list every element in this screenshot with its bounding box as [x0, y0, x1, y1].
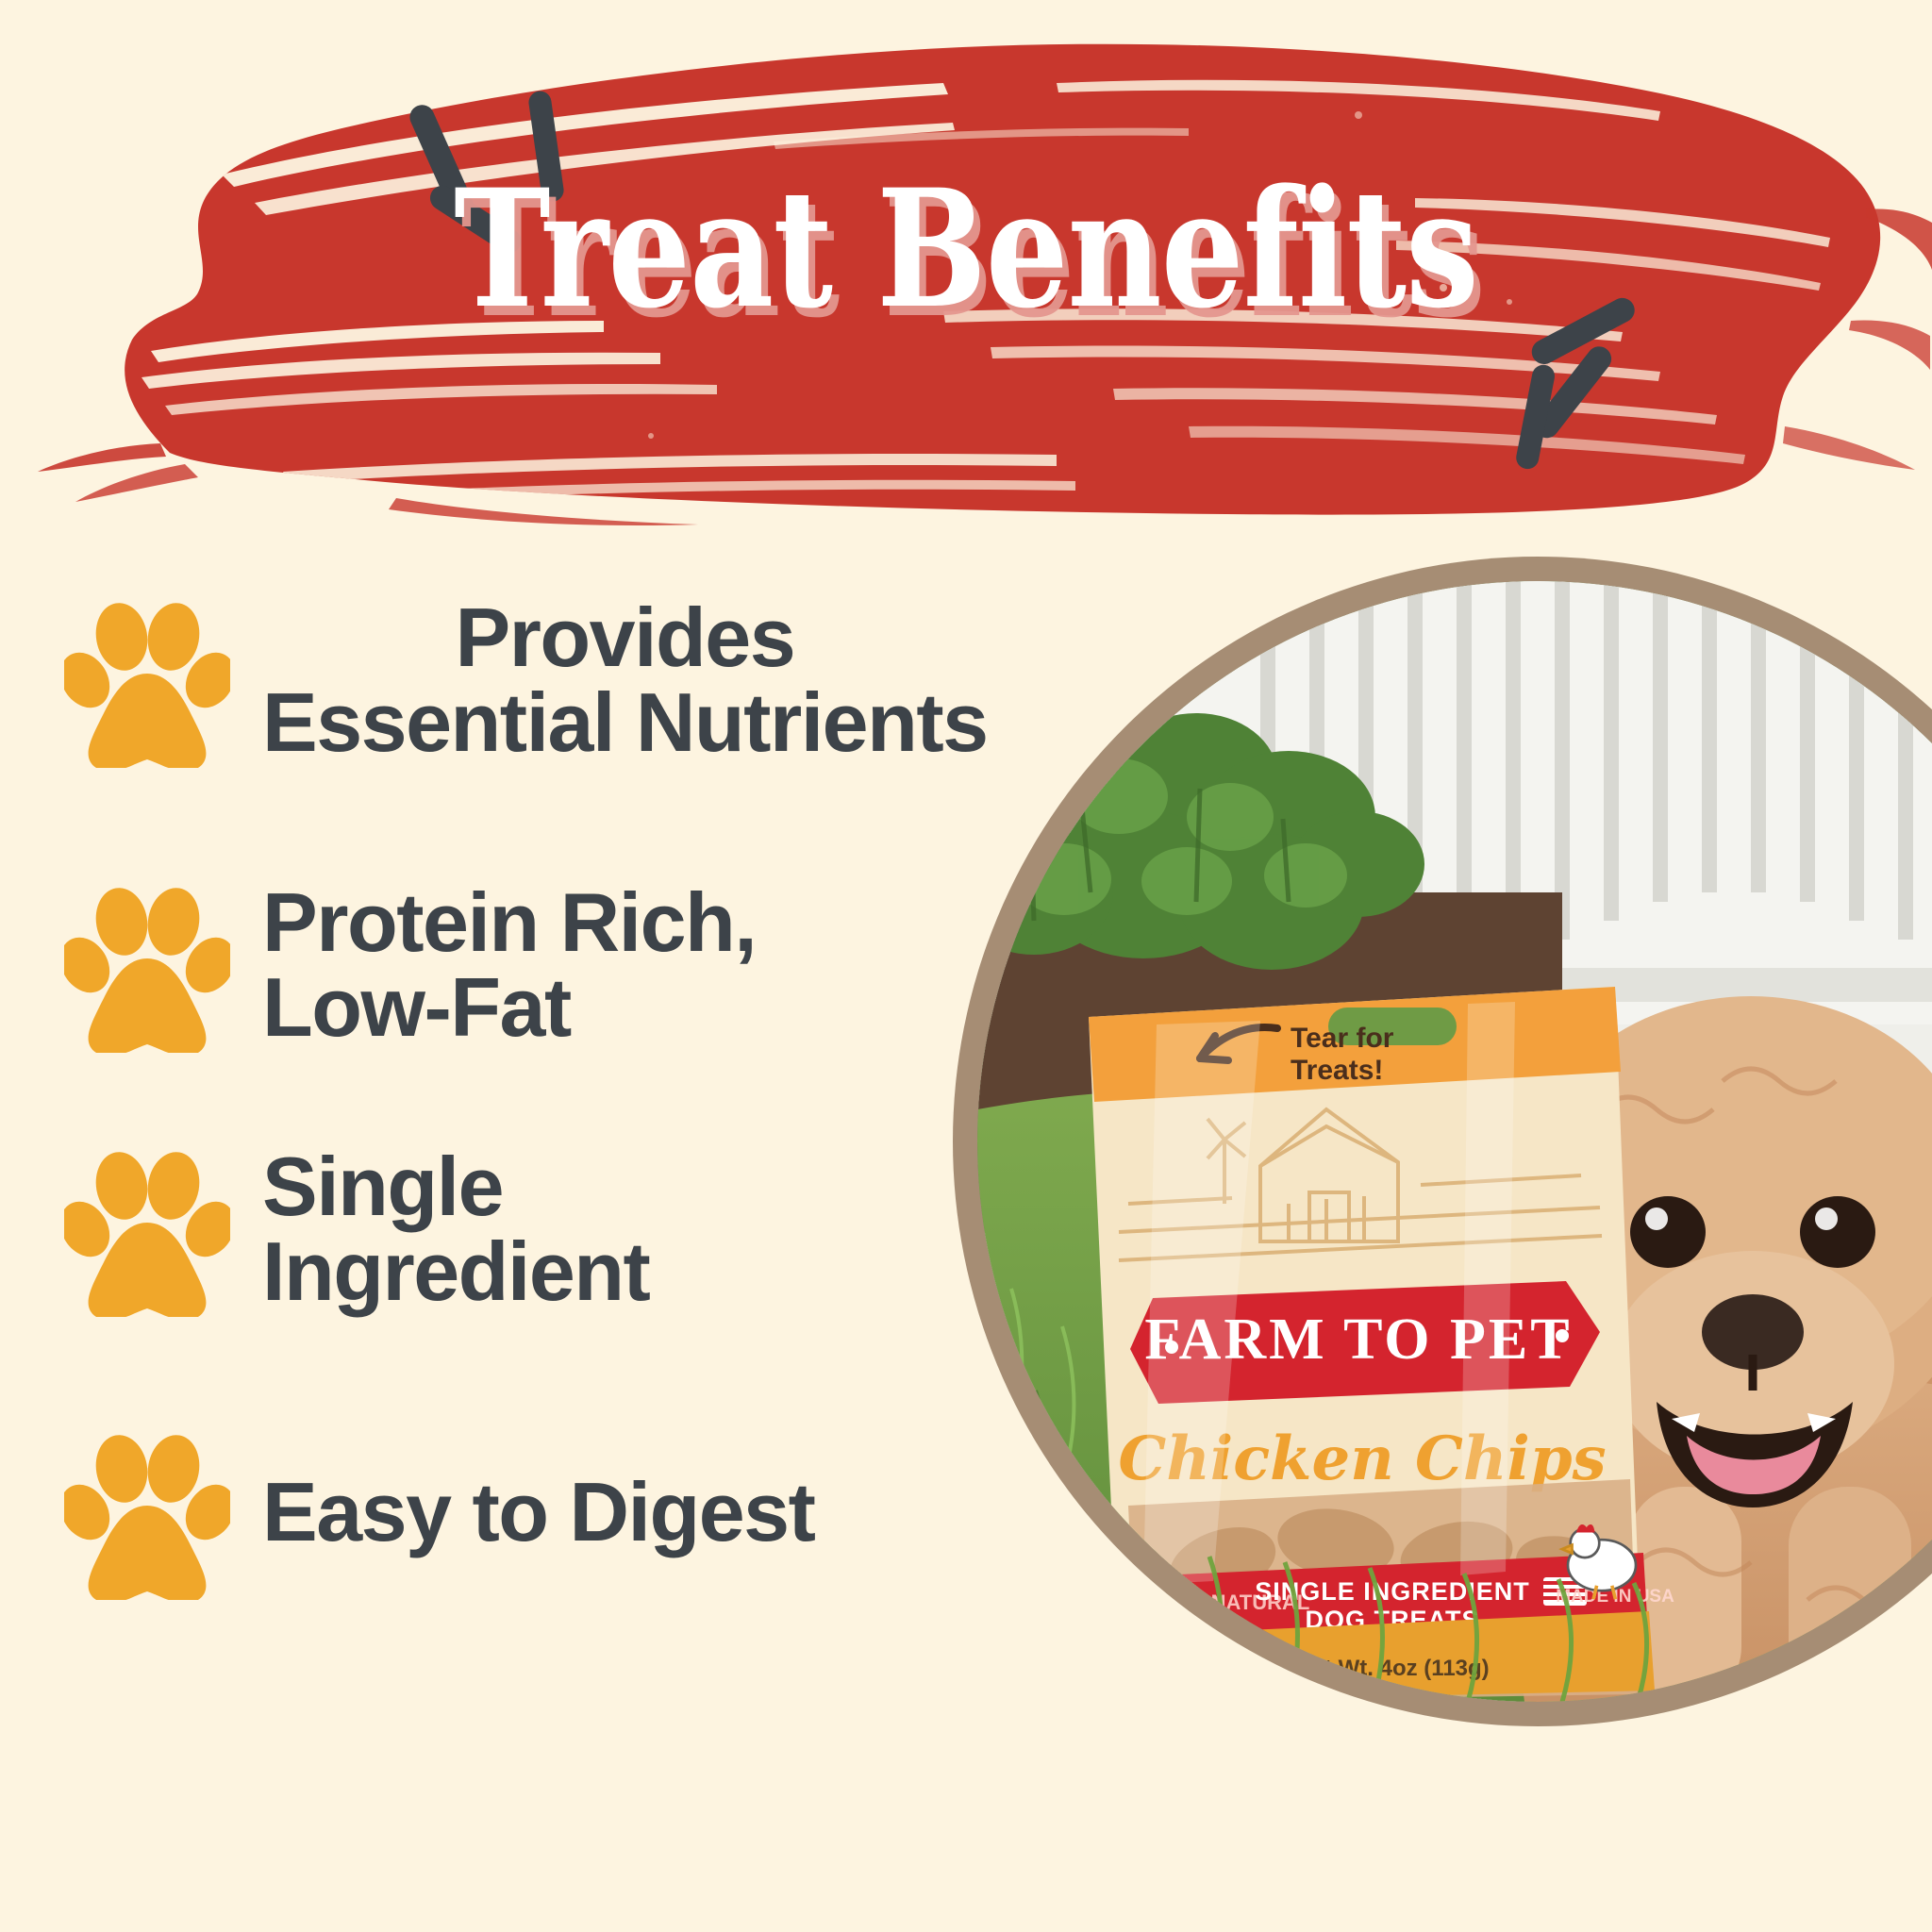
- package-tear-label-line1: Tear for: [1291, 1023, 1394, 1054]
- benefit-label: Easy to Digest: [262, 1470, 814, 1555]
- paw-icon: [64, 1424, 230, 1600]
- page-title: Treat Benefits: [193, 168, 1739, 330]
- paw-icon: [64, 1141, 230, 1317]
- benefit-item-protein-rich-low-fat: Protein Rich, Low-Fat: [64, 877, 756, 1053]
- benefit-label: Provides Essential Nutrients: [262, 595, 988, 765]
- infographic-canvas: Treat Benefits Provides Essential Nutrie…: [0, 0, 1932, 1932]
- product-package: Tear for Treats!: [1089, 987, 1674, 1702]
- benefit-item-single-ingredient: Single Ingredient: [64, 1141, 649, 1317]
- benefit-label: Single Ingredient: [262, 1144, 649, 1314]
- benefit-label: Protein Rich, Low-Fat: [262, 880, 756, 1050]
- paw-icon: [64, 877, 230, 1053]
- product-photo-frame: Tear for Treats!: [953, 557, 1932, 1726]
- benefit-item-provides-essential-nutrients: Provides Essential Nutrients: [64, 592, 988, 768]
- package-net-weight: Net Wt. 4oz (113g): [1295, 1656, 1489, 1681]
- paw-icon: [64, 592, 230, 768]
- benefit-item-easy-to-digest: Easy to Digest: [64, 1424, 814, 1600]
- product-photo: Tear for Treats!: [977, 581, 1932, 1702]
- header-banner: Treat Benefits: [0, 0, 1932, 528]
- package-tear-label-line2: Treats!: [1291, 1055, 1383, 1086]
